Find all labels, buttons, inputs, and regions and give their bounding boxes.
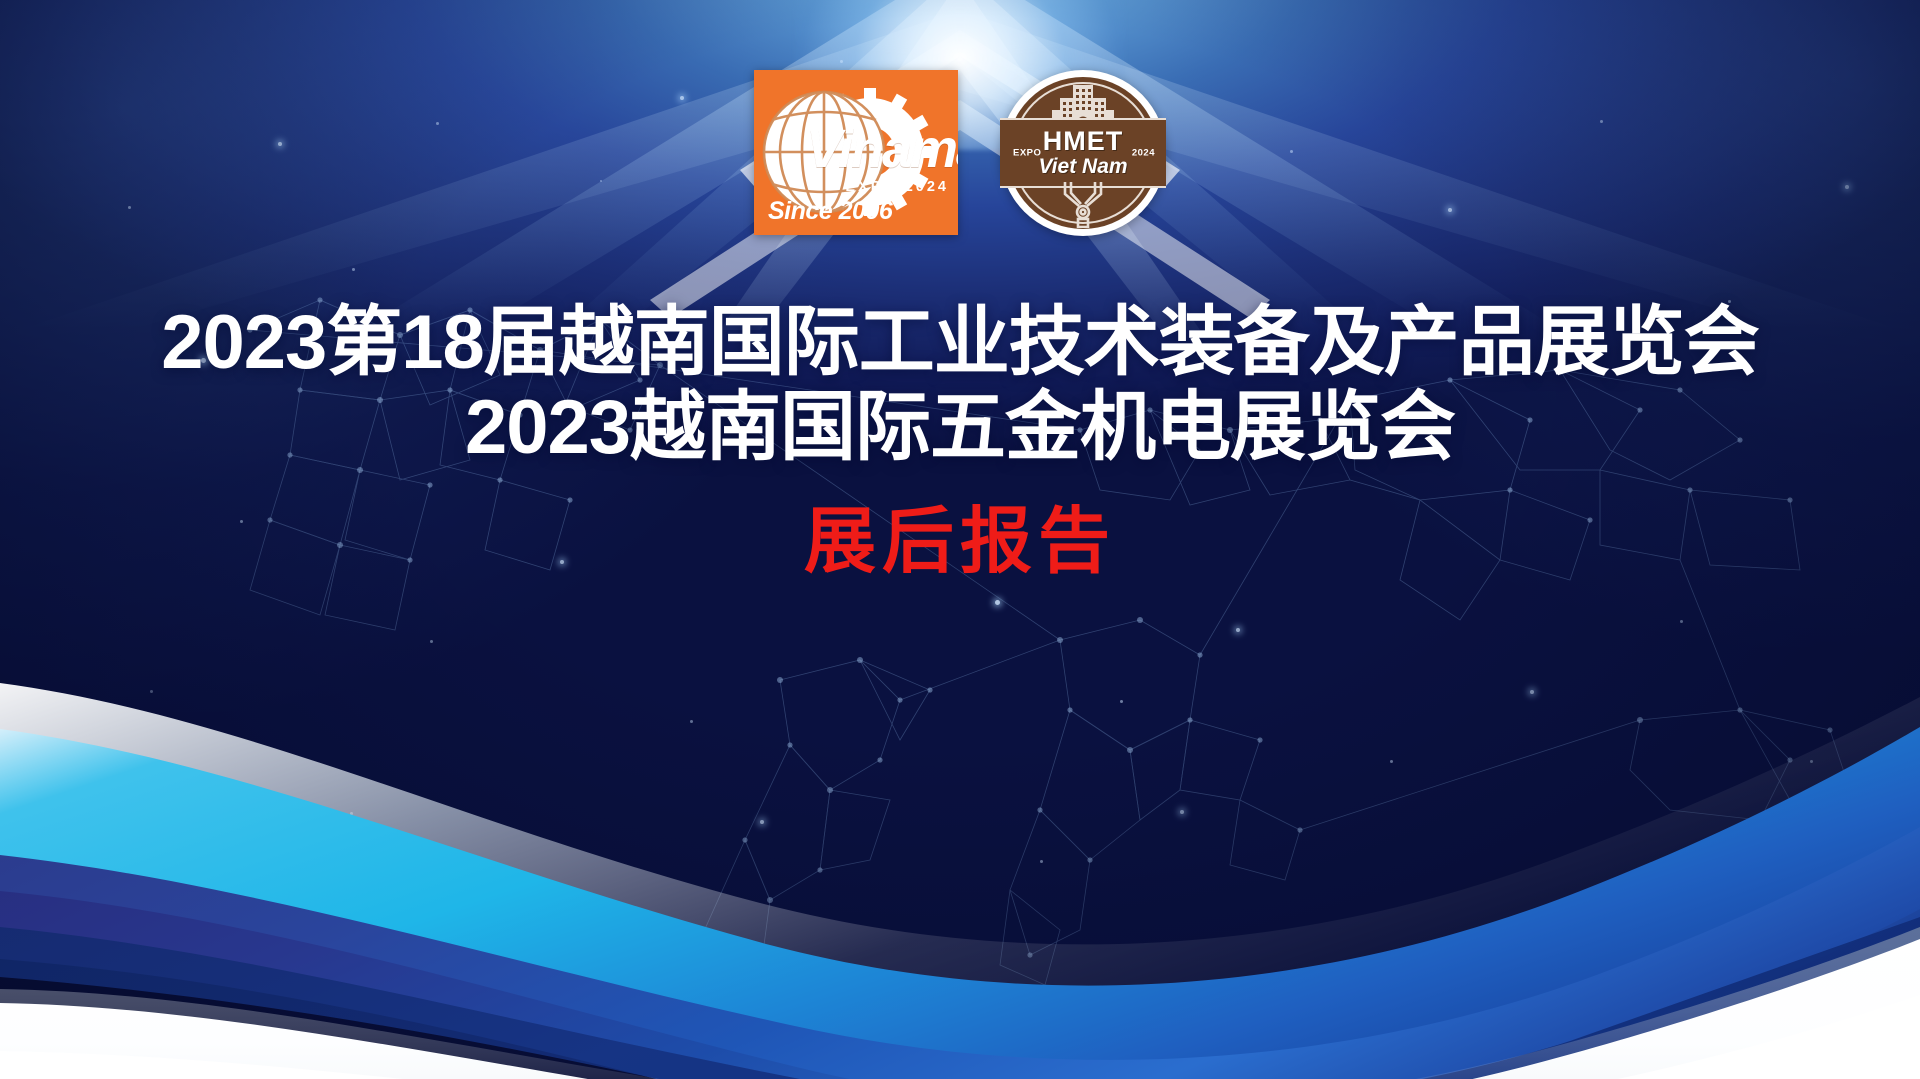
wave-svg [0, 659, 1920, 1079]
caliper-tool-icon [1057, 180, 1109, 228]
hmet-expo-badge: EXPO [1013, 148, 1041, 159]
title-line-2: 2023越南国际五金机电展览会 [0, 385, 1920, 470]
vinamac-since-label: Since 2006 [768, 197, 892, 226]
hmet-subtitle: Viet Nam [1038, 155, 1127, 178]
vinamac-wordmark: Vinamac [806, 122, 958, 176]
report-subtitle: 展后报告 [0, 506, 1920, 578]
bottom-wave-decoration [0, 659, 1920, 1079]
hmet-year-badge: 2024 [1132, 148, 1155, 159]
vinamac-expo-year: EXPO 2024 [845, 179, 949, 195]
hmet-title: HMET [1043, 128, 1124, 156]
logo-row: Vinamac EXPO 2024 Since 2006 [0, 70, 1920, 236]
title-line-1: 2023第18届越南国际工业技术装备及产品展览会 [0, 300, 1920, 385]
vinamac-expo-logo: Vinamac EXPO 2024 Since 2006 [754, 70, 958, 235]
poster-slide: Vinamac EXPO 2024 Since 2006 [0, 0, 1920, 1079]
hmet-viet-nam-logo: HMET Viet Nam EXPO 2024 [1000, 70, 1166, 236]
title-block: 2023第18届越南国际工业技术装备及产品展览会 2023越南国际五金机电展览会… [0, 300, 1920, 578]
